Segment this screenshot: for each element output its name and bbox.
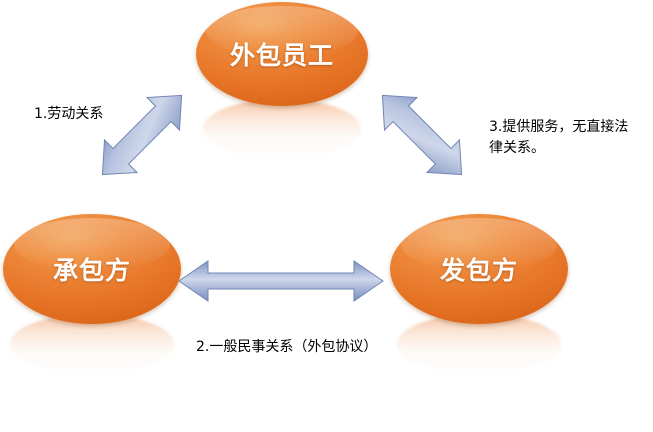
arrow-contractor-employee-icon [78, 66, 206, 204]
node-label-outsourced-employee: 外包员工 [230, 36, 334, 72]
node-contractor[interactable]: 承包方 [3, 214, 181, 324]
arrow-employee-client-icon [358, 66, 486, 204]
caption-labor-relationship: 1.劳动关系 [34, 104, 103, 125]
arrow-contractor-client-icon [176, 256, 386, 306]
node-client[interactable]: 发包方 [390, 214, 568, 324]
node-outsourced-employee[interactable]: 外包员工 [196, 2, 368, 106]
node-ellipse-left: 承包方 [3, 214, 181, 324]
caption-civil-relationship: 2.一般民事关系（外包协议） [196, 337, 377, 358]
diagram-canvas: 外包员工 承包方 发包方 [0, 0, 653, 432]
caption-service-no-legal-relationship: 3.提供服务，无直接法 律关系。 [489, 117, 647, 159]
node-label-contractor: 承包方 [53, 251, 131, 287]
node-reflection-top [203, 99, 361, 159]
node-ellipse-right: 发包方 [390, 214, 568, 324]
node-ellipse-top: 外包员工 [196, 2, 368, 106]
node-label-client: 发包方 [440, 251, 518, 287]
